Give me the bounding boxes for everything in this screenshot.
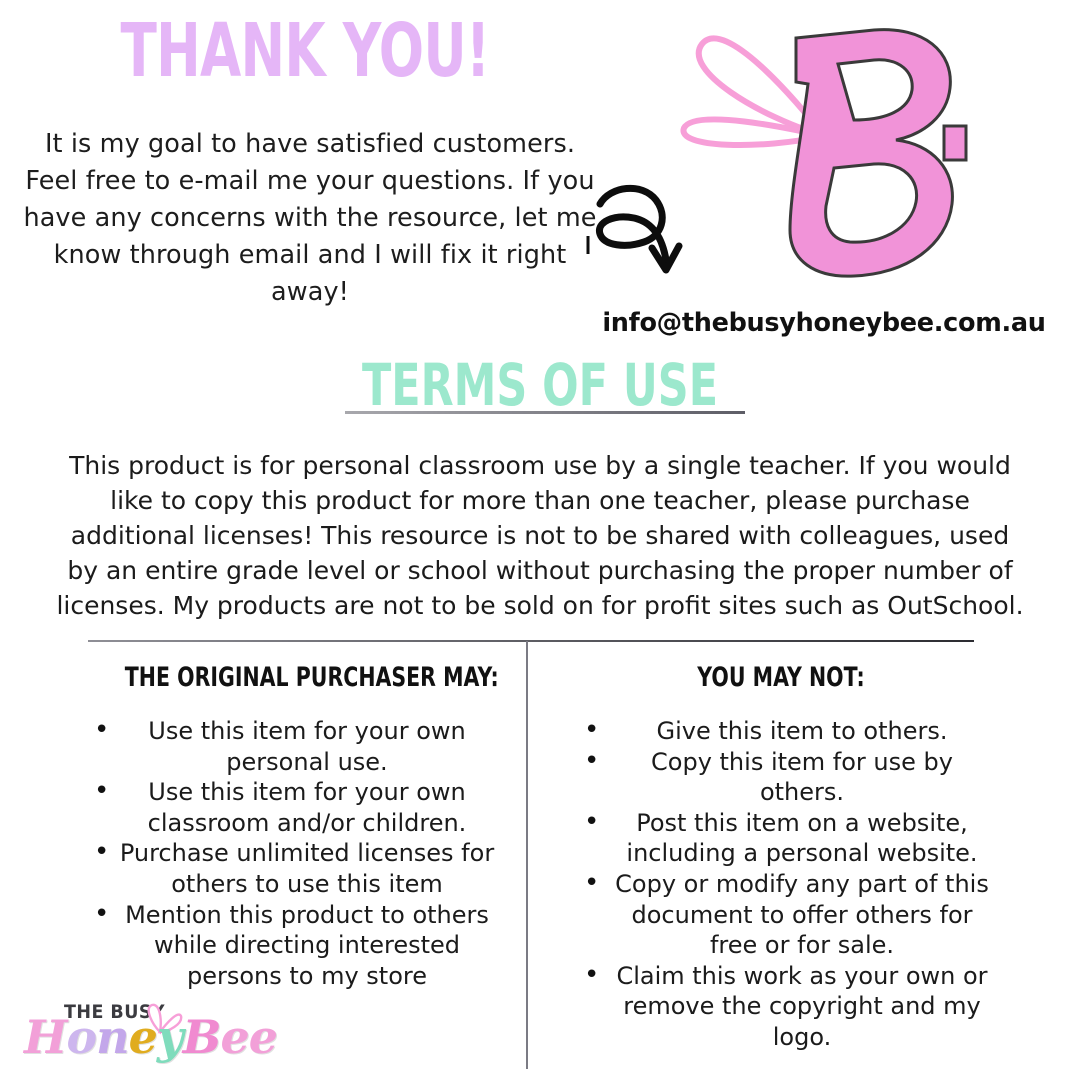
columns-divider-horizontal bbox=[88, 640, 974, 642]
curly-arrow-icon bbox=[586, 178, 690, 286]
bullet-list-may: Use this item for your own personal use.… bbox=[72, 716, 512, 991]
column-heading-may: THE ORIGINAL PURCHASER MAY: bbox=[125, 664, 459, 691]
footer-logo-letter: o bbox=[66, 1010, 96, 1064]
bullet-list-may-not: Give this item to others.Copy this item … bbox=[556, 716, 1006, 1053]
column-original-purchaser-may: THE ORIGINAL PURCHASER MAY: Use this ite… bbox=[72, 664, 512, 991]
list-item: Claim this work as your own or remove th… bbox=[556, 961, 1006, 1053]
footer-logo-letter: H bbox=[24, 1010, 66, 1064]
list-item: Use this item for your own personal use. bbox=[72, 716, 512, 777]
column-heading-may-not: YOU MAY NOT: bbox=[610, 664, 952, 691]
terms-paragraph: This product is for personal classroom u… bbox=[52, 448, 1028, 623]
list-item: Purchase unlimited licenses for others t… bbox=[72, 838, 512, 899]
terms-of-use-heading: TERMS OF USE bbox=[140, 356, 939, 414]
terms-heading-underline bbox=[345, 411, 745, 414]
footer-logo-letter: n bbox=[96, 1010, 128, 1064]
list-item: Post this item on a website, including a… bbox=[556, 808, 1006, 869]
list-item: Use this item for your own classroom and… bbox=[72, 777, 512, 838]
footer-logo-letter: e bbox=[129, 1010, 157, 1064]
column-you-may-not: YOU MAY NOT: Give this item to others.Co… bbox=[556, 664, 1006, 1053]
list-item: Copy this item for use by others. bbox=[556, 747, 1006, 808]
columns-divider-vertical bbox=[526, 641, 528, 1069]
page-root: THANK YOU! It is my goal to have satisfi… bbox=[0, 0, 1080, 1080]
intro-paragraph: It is my goal to have satisfied customer… bbox=[18, 126, 602, 311]
email-address[interactable]: info@thebusyhoneybee.com.au bbox=[600, 308, 1048, 338]
thank-you-heading: THANK YOU! bbox=[85, 14, 524, 88]
footer-logo-letter: e bbox=[221, 1010, 249, 1064]
footer-logo-letter: e bbox=[249, 1010, 277, 1064]
list-item: Mention this product to others while dir… bbox=[72, 900, 512, 992]
bee-logo bbox=[676, 4, 986, 304]
list-item: Copy or modify any part of this document… bbox=[556, 869, 1006, 961]
list-item: Give this item to others. bbox=[556, 716, 1006, 747]
footer-logo-script-text: HoneyBee bbox=[24, 1014, 277, 1060]
footer-logo-letter: B bbox=[183, 1010, 221, 1064]
footer-logo-letter: y bbox=[157, 1010, 183, 1064]
footer-logo: THE BUSY HoneyBee bbox=[18, 1000, 228, 1074]
